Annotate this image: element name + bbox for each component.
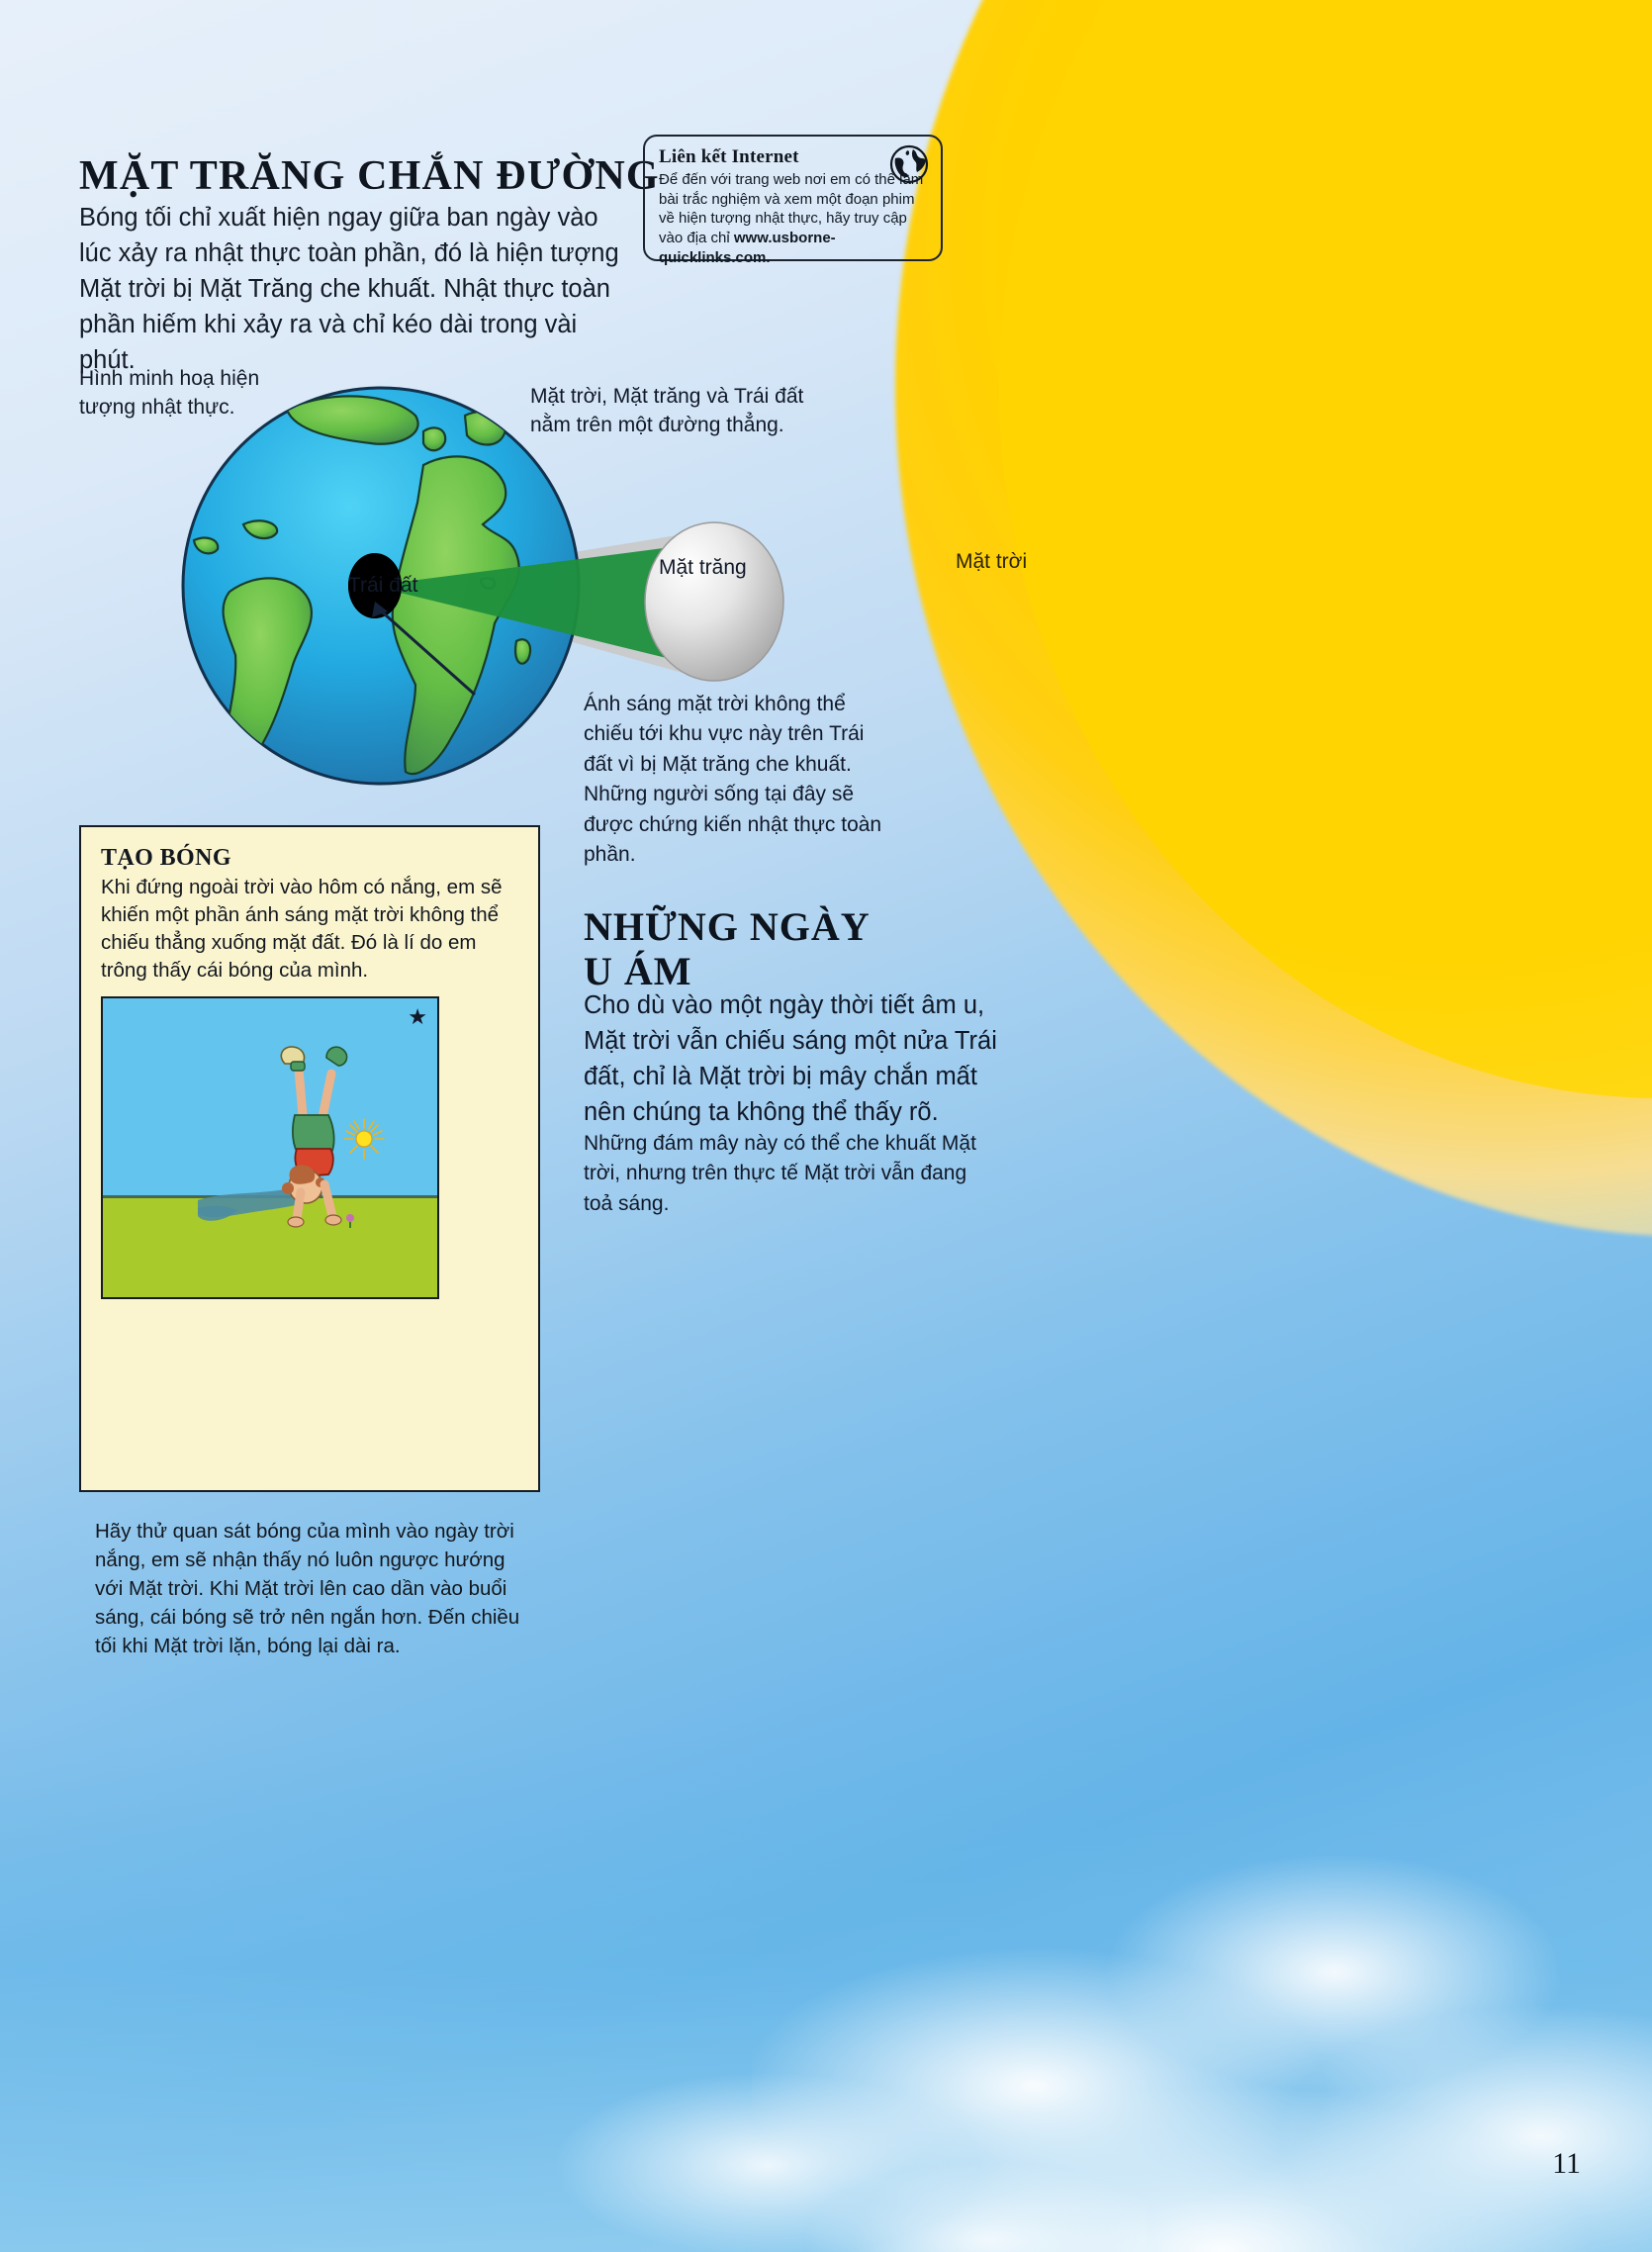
cloudy-days-heading-line1: NHỮNG NGÀY bbox=[584, 904, 871, 949]
diagram-caption-alignment: Mặt trời, Mặt trăng và Trái đất nằm trên… bbox=[530, 383, 827, 440]
label-sun: Mặt trời bbox=[956, 550, 1027, 574]
cloudy-days-paragraph-1: Cho dù vào một ngày thời tiết âm u, Mặt … bbox=[584, 987, 999, 1131]
internet-link-box[interactable]: Liên kết Internet Để đến với trang web n… bbox=[643, 135, 943, 261]
girl-handstand-shadow-illustration: ★ bbox=[101, 996, 439, 1299]
shadow-activity-panel: TẠO BÓNG Khi đứng ngoài trời vào hôm có … bbox=[79, 825, 540, 1492]
internet-link-body: Để đến với trang web nơi em có thể làm b… bbox=[659, 170, 928, 267]
intro-paragraph: Bóng tối chỉ xuất hiện ngay giữa ban ngà… bbox=[79, 200, 633, 379]
page-number: 11 bbox=[1552, 2147, 1581, 2181]
cloudy-days-heading: NHỮNG NGÀYU ÁM bbox=[584, 905, 910, 994]
shadow-panel-body: Khi đứng ngoài trời vào hôm có nắng, em … bbox=[101, 874, 518, 985]
internet-link-title: Liên kết Internet bbox=[659, 146, 928, 168]
shadow-panel-title: TẠO BÓNG bbox=[101, 845, 518, 872]
label-earth: Trái đất bbox=[348, 574, 417, 598]
page-canvas: MẶT TRĂNG CHẮN ĐƯỜNG Bóng tối chỉ xuất h… bbox=[0, 0, 1652, 2252]
girl-figure bbox=[103, 998, 437, 1297]
label-moon: Mặt trăng bbox=[659, 556, 747, 580]
diagram-caption-left: Hình minh hoạ hiện tượng nhật thực. bbox=[79, 365, 297, 422]
diagram-caption-shadow: Ánh sáng mặt trời không thể chiếu tới kh… bbox=[584, 690, 898, 871]
shadow-panel-footnote: Hãy thử quan sát bóng của mình vào ngày … bbox=[95, 1517, 530, 1661]
page-title: MẶT TRĂNG CHẮN ĐƯỜNG bbox=[79, 154, 673, 198]
cloud-bank-left bbox=[514, 1939, 1147, 2252]
globe-icon bbox=[889, 144, 929, 184]
cloudy-days-paragraph-2: Những đám mây này có thể che khuất Mặt t… bbox=[584, 1129, 991, 1219]
